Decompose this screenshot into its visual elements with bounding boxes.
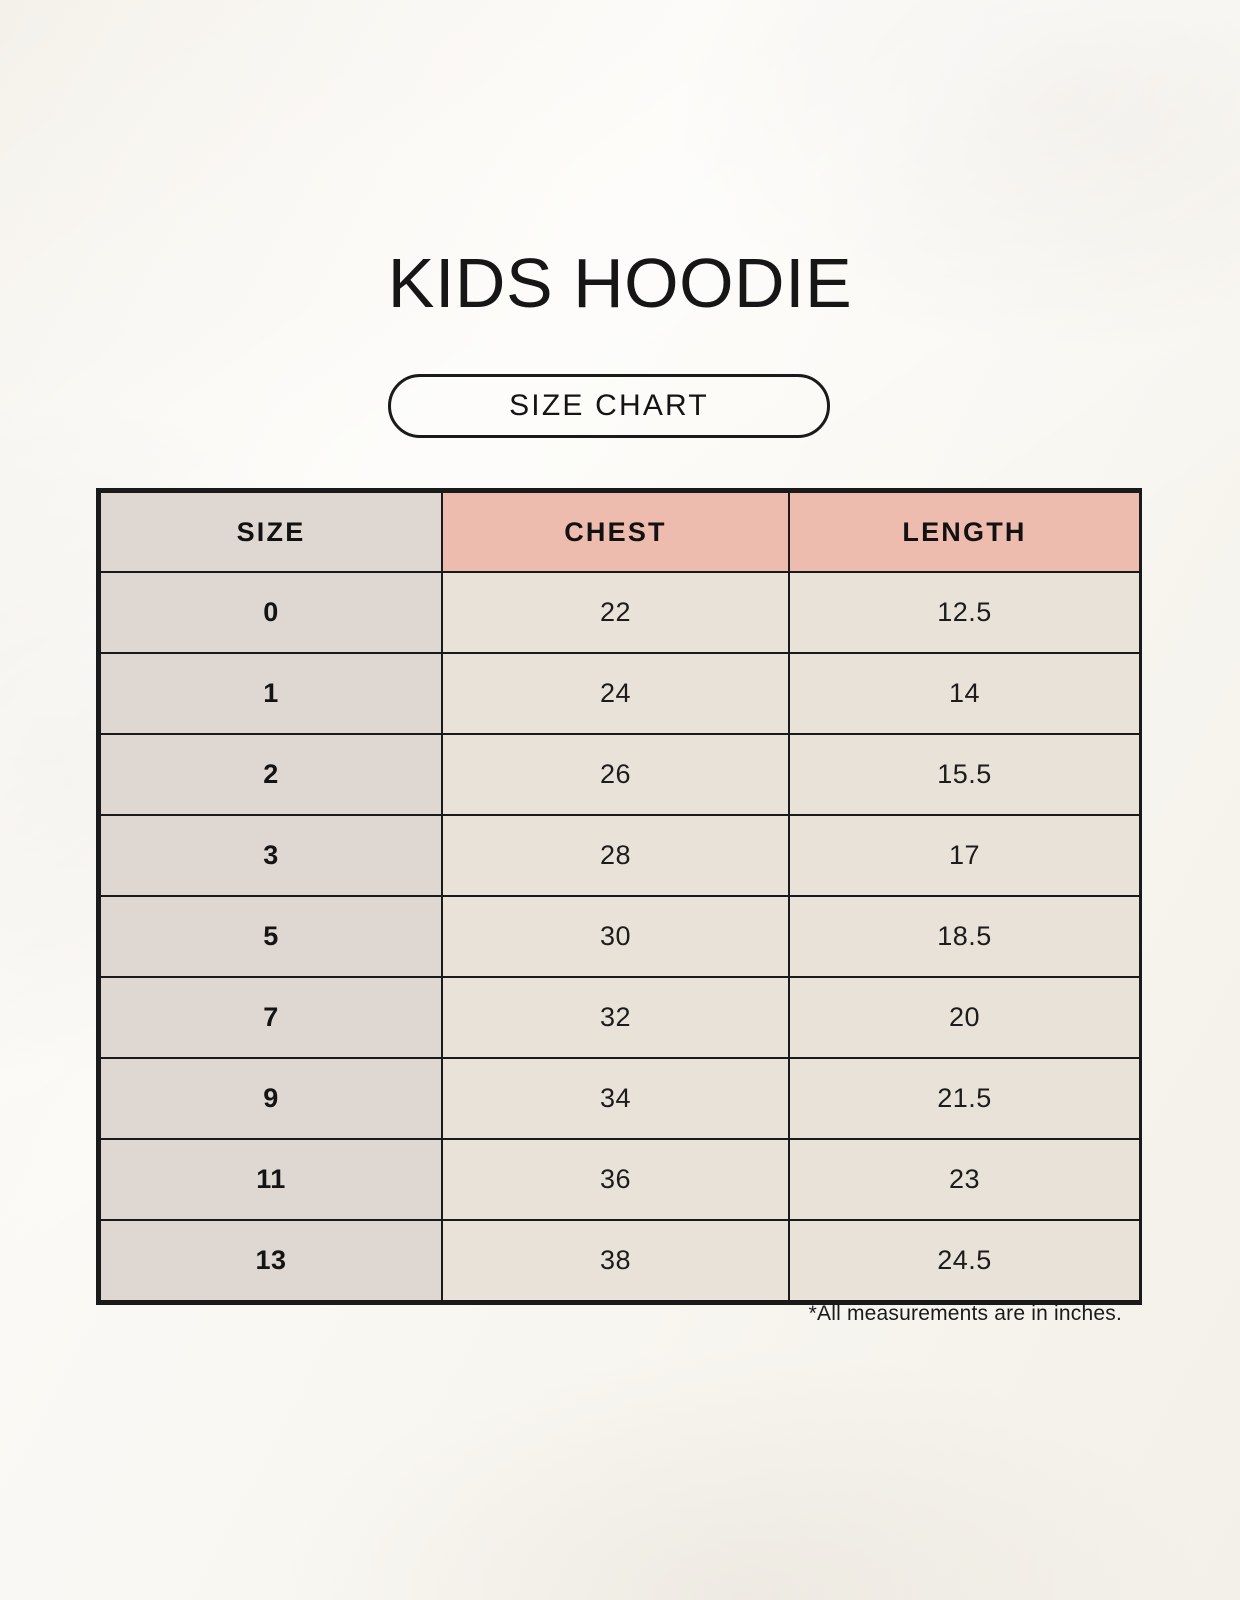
table-header-row: SIZE CHEST LENGTH (100, 492, 1140, 572)
size-chart-badge-label: SIZE CHART (509, 389, 709, 423)
size-chart-page: KIDS HOODIE SIZE CHART SIZE CHEST LENGTH… (0, 0, 1240, 1600)
page-title: KIDS HOODIE (0, 248, 1240, 318)
table-row: 73220 (100, 977, 1140, 1058)
size-chart-table-wrapper: SIZE CHEST LENGTH 02212.51241422615.5328… (96, 488, 1142, 1305)
size-chart-badge: SIZE CHART (388, 374, 830, 438)
cell-size: 13 (100, 1220, 442, 1301)
cell-length: 15.5 (789, 734, 1140, 815)
table-row: 133824.5 (100, 1220, 1140, 1301)
cell-size: 2 (100, 734, 442, 815)
table-header: SIZE CHEST LENGTH (100, 492, 1140, 572)
cell-chest: 28 (442, 815, 789, 896)
measurement-note: *All measurements are in inches. (96, 1302, 1122, 1326)
cell-length: 24.5 (789, 1220, 1140, 1301)
cell-size: 5 (100, 896, 442, 977)
table-row: 22615.5 (100, 734, 1140, 815)
cell-chest: 30 (442, 896, 789, 977)
cell-chest: 34 (442, 1058, 789, 1139)
cell-length: 14 (789, 653, 1140, 734)
table-row: 32817 (100, 815, 1140, 896)
cell-size: 11 (100, 1139, 442, 1220)
table-row: 02212.5 (100, 572, 1140, 653)
cell-length: 20 (789, 977, 1140, 1058)
table-row: 93421.5 (100, 1058, 1140, 1139)
cell-chest: 26 (442, 734, 789, 815)
cell-chest: 36 (442, 1139, 789, 1220)
cell-size: 7 (100, 977, 442, 1058)
cell-chest: 24 (442, 653, 789, 734)
cell-chest: 38 (442, 1220, 789, 1301)
cell-length: 18.5 (789, 896, 1140, 977)
column-header-chest: CHEST (442, 492, 789, 572)
cell-size: 3 (100, 815, 442, 896)
cell-length: 17 (789, 815, 1140, 896)
cell-length: 23 (789, 1139, 1140, 1220)
cell-chest: 22 (442, 572, 789, 653)
cell-size: 0 (100, 572, 442, 653)
cell-length: 21.5 (789, 1058, 1140, 1139)
cell-length: 12.5 (789, 572, 1140, 653)
cell-size: 9 (100, 1058, 442, 1139)
cell-size: 1 (100, 653, 442, 734)
table-row: 53018.5 (100, 896, 1140, 977)
table-row: 113623 (100, 1139, 1140, 1220)
table-body: 02212.51241422615.53281753018.5732209342… (100, 572, 1140, 1301)
size-chart-table: SIZE CHEST LENGTH 02212.51241422615.5328… (99, 491, 1141, 1302)
table-row: 12414 (100, 653, 1140, 734)
cell-chest: 32 (442, 977, 789, 1058)
column-header-length: LENGTH (789, 492, 1140, 572)
column-header-size: SIZE (100, 492, 442, 572)
